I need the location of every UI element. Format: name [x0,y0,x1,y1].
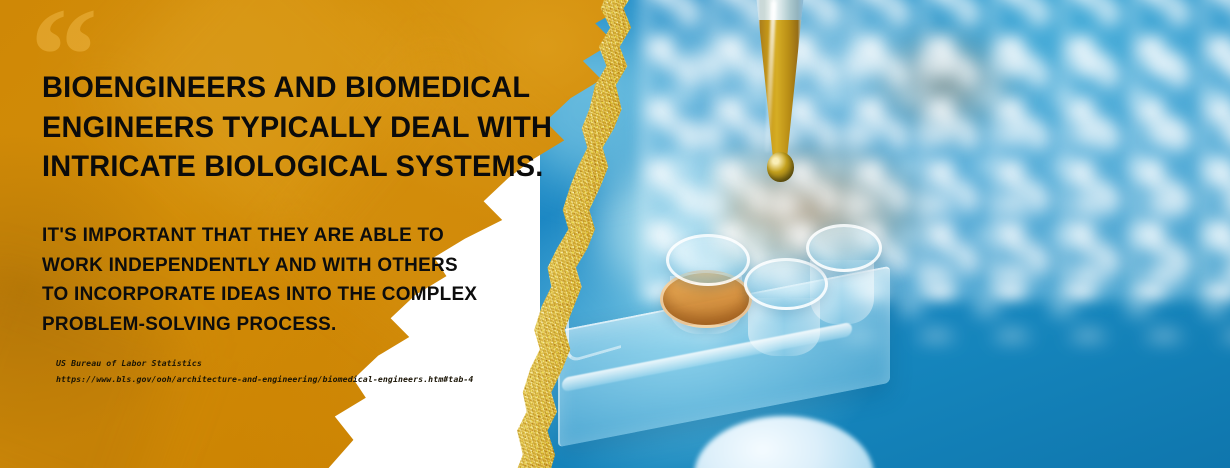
headline-line-2: engineers typically deal with [42,108,553,148]
reagent-droplet [767,152,794,182]
citation-source: US Bureau of Labor Statistics [56,356,473,372]
page-title: Bioengineers and biomedical engineers ty… [42,68,553,187]
subhead-line-3: to incorporate ideas into the complex [42,280,556,310]
citation: US Bureau of Labor Statistics https://ww… [56,356,473,388]
headline-line-3: intricate biological systems. [42,147,553,187]
citation-url[interactable]: https://www.bls.gov/ooh/architecture-and… [56,372,473,388]
quote-banner: “ Bioengineers and biomedical engineers … [0,0,1230,468]
microplate-foreground [548,228,908,468]
lab-photograph [540,0,1230,468]
empty-well [744,258,828,310]
empty-well [806,224,882,272]
quote-copy: Bioengineers and biomedical engineers ty… [42,68,572,340]
subhead-line-2: work independently and with others [42,251,556,281]
subhead-line-1: It's important that they are able to [42,221,556,251]
empty-well [666,234,750,286]
headline-line-1: Bioengineers and biomedical [42,68,553,108]
subheadline: It's important that they are able to wor… [42,221,556,340]
pipette-barrel [754,0,806,20]
foreground-glass-object [694,416,874,468]
subhead-line-4: problem-solving process. [42,310,556,340]
